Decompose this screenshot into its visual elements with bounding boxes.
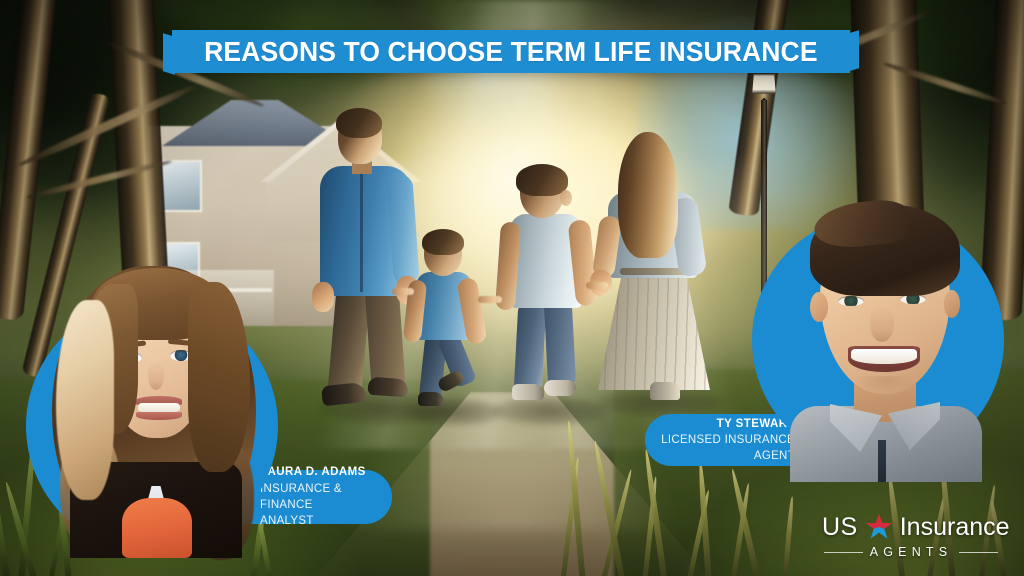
logo-word-us: US: [822, 513, 858, 542]
logo-tagline: AGENTS: [870, 545, 953, 559]
hero-banner-image: REASONS TO CHOOSE TERM LIFE INSURANCE LA…: [0, 0, 1024, 576]
avatar: [30, 248, 278, 558]
banner-edge-left: [163, 33, 175, 74]
logo-rule-right: [959, 552, 998, 553]
logo-rule-left: [824, 552, 863, 553]
title-banner: REASONS TO CHOOSE TERM LIFE INSURANCE: [172, 30, 850, 73]
star-icon: [866, 514, 892, 540]
page-title: REASONS TO CHOOSE TERM LIFE INSURANCE: [204, 36, 817, 68]
logo-wordmark: US Insurance: [822, 512, 998, 542]
brand-logo[interactable]: US Insurance: [822, 512, 998, 564]
logo-tagline-row: AGENTS: [822, 545, 998, 559]
banner-edge-right: [847, 30, 859, 71]
logo-word-insurance: Insurance: [900, 513, 1010, 542]
avatar: [772, 200, 996, 480]
